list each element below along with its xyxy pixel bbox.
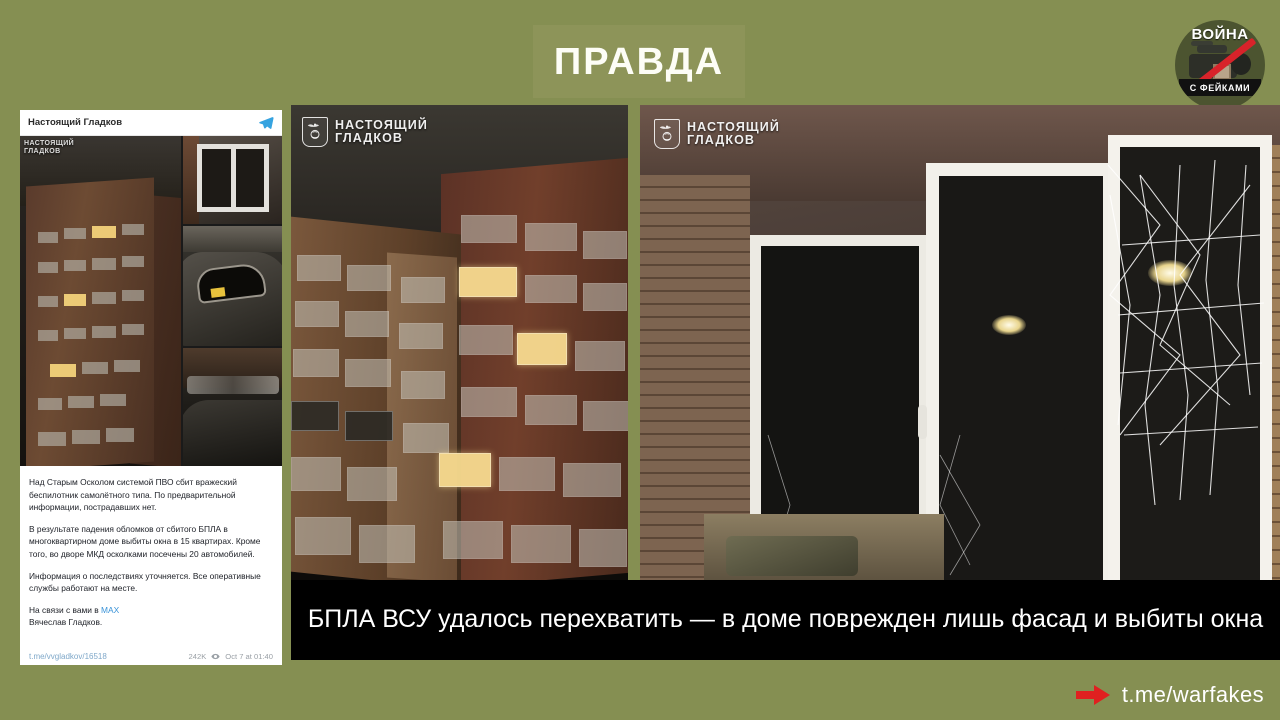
logo-bottom-banner: С ФЕЙКАМИ bbox=[1179, 79, 1261, 96]
window-cell bbox=[499, 457, 555, 491]
watermark-label: НАСТОЯЩИЙ ГЛАДКОВ bbox=[335, 119, 428, 146]
logo-circle: ВОЙНА С ФЕЙКАМИ bbox=[1175, 20, 1265, 110]
telegram-thumb-damaged-car[interactable] bbox=[183, 226, 282, 346]
window-cell bbox=[92, 326, 116, 338]
window-cell bbox=[38, 232, 58, 243]
ceiling-lamp-reflection bbox=[992, 315, 1026, 335]
window-cell-dark bbox=[291, 401, 339, 431]
window-cell bbox=[347, 265, 391, 291]
ceiling-lamp-reflection bbox=[1148, 260, 1192, 286]
window-cell bbox=[399, 323, 443, 349]
view-count: 242K bbox=[189, 652, 207, 661]
pravda-badge: ПРАВДА bbox=[533, 25, 745, 98]
watermark-line-1: НАСТОЯЩИЙ bbox=[335, 118, 428, 132]
window-cell bbox=[583, 283, 627, 311]
caption-text: БПЛА ВСУ удалось перехватить — в доме по… bbox=[308, 605, 1263, 635]
watermark-label: НАСТОЯЩИЙ ГЛАДКОВ bbox=[687, 121, 780, 148]
window-cell bbox=[92, 258, 116, 270]
post-signoff: На связи с вами в MAX Вячеслав Гладков. bbox=[29, 604, 273, 629]
street-background bbox=[183, 226, 282, 252]
page-header: ПРАВДА ВОЙНА С ФЕЙКАМИ bbox=[0, 0, 1280, 105]
window-cell bbox=[359, 525, 415, 563]
photo-watermark-text: НАСТОЯЩИЙГЛАДКОВ bbox=[24, 140, 74, 156]
shattered-window-photo[interactable]: НАСТОЯЩИЙ ГЛАДКОВ bbox=[640, 105, 1280, 580]
window-cell bbox=[297, 255, 341, 281]
window-cell bbox=[461, 215, 517, 243]
cloth-on-sill bbox=[726, 536, 858, 576]
telegram-post-text: Над Старым Осколом системой ПВО сбит вра… bbox=[20, 466, 282, 629]
signoff-prefix: На связи с вами в bbox=[29, 605, 101, 615]
telegram-post-header: Настоящий Гладков bbox=[20, 110, 282, 136]
telegram-photo-grid[interactable]: НАСТОЯЩИЙГЛАДКОВ bbox=[20, 136, 282, 466]
window-cell bbox=[64, 228, 86, 239]
window-cell bbox=[347, 467, 397, 501]
page-footer[interactable]: t.me/warfakes bbox=[1076, 682, 1264, 708]
max-link[interactable]: MAX bbox=[101, 605, 119, 615]
post-meta: 242K Oct 7 at 01:40 bbox=[189, 652, 273, 661]
window-cell bbox=[64, 328, 86, 339]
window-cell-lit bbox=[92, 226, 116, 238]
window-cell-lit bbox=[50, 364, 76, 377]
window-sash-right-broken bbox=[1108, 135, 1272, 580]
window-cell bbox=[92, 292, 116, 304]
telegram-photo-thumbnails bbox=[183, 136, 282, 466]
apartment-building-photo[interactable]: НАСТОЯЩИЙ ГЛАДКОВ bbox=[291, 105, 628, 580]
window-cell-lit bbox=[517, 333, 567, 365]
window-cell bbox=[583, 401, 628, 431]
window-cell bbox=[38, 296, 58, 307]
telegram-channel-name: Настоящий Гладков bbox=[28, 117, 258, 128]
window-cell bbox=[459, 325, 513, 355]
logo-bottom-word: С ФЕЙКАМИ bbox=[1190, 83, 1251, 93]
window-cell bbox=[575, 341, 625, 371]
window-cell bbox=[563, 463, 621, 497]
watermark-gladkov: НАСТОЯЩИЙ ГЛАДКОВ bbox=[654, 119, 780, 149]
window-cell bbox=[38, 262, 58, 273]
window-cell bbox=[345, 359, 391, 387]
window-cell bbox=[100, 394, 126, 406]
window-cell bbox=[401, 371, 445, 399]
eye-icon bbox=[211, 652, 220, 661]
signoff-author: Вячеслав Гладков. bbox=[29, 617, 102, 627]
watermark-line-1: НАСТОЯЩИЙ bbox=[687, 120, 780, 134]
window-cell bbox=[403, 423, 449, 453]
window-cell bbox=[345, 311, 389, 337]
post-paragraph-1: Над Старым Осколом системой ПВО сбит вра… bbox=[29, 476, 273, 514]
camera-top-icon bbox=[1197, 45, 1227, 53]
telegram-photo-building[interactable]: НАСТОЯЩИЙГЛАДКОВ bbox=[20, 136, 181, 466]
window-cell bbox=[72, 430, 100, 444]
window-cell bbox=[38, 432, 66, 446]
telegram-post-footer: t.me/vvgladkov/16518 242K Oct 7 at 01:40 bbox=[20, 652, 282, 661]
caption-bar: БПЛА ВСУ удалось перехватить — в доме по… bbox=[291, 580, 1280, 660]
window-cell bbox=[295, 301, 339, 327]
window-cell bbox=[82, 362, 108, 374]
window-cell bbox=[291, 457, 341, 491]
window-cell bbox=[106, 428, 134, 442]
window-cell bbox=[38, 330, 58, 341]
window-cell bbox=[579, 529, 627, 567]
watermark-line-2: ГЛАДКОВ bbox=[335, 131, 403, 145]
window-cell-lit bbox=[459, 267, 517, 297]
post-paragraph-3: Информация о последствиях уточняется. Вс… bbox=[29, 570, 273, 595]
window-cell bbox=[525, 223, 577, 251]
window-cell bbox=[295, 517, 351, 555]
window-handle[interactable] bbox=[918, 405, 927, 439]
window-cell bbox=[114, 360, 140, 372]
window-cell bbox=[583, 231, 627, 259]
window-cell bbox=[293, 349, 339, 377]
telegram-thumb-courtyard[interactable] bbox=[183, 348, 282, 466]
car-roof-foreground bbox=[183, 400, 282, 466]
window-cell bbox=[122, 224, 144, 235]
window-cell bbox=[68, 396, 94, 408]
window-cell bbox=[38, 398, 62, 410]
window-cell bbox=[461, 387, 517, 417]
post-permalink[interactable]: t.me/vvgladkov/16518 bbox=[29, 652, 189, 661]
post-paragraph-2: В результате падения обломков от сбитого… bbox=[29, 523, 273, 561]
yellow-marker bbox=[211, 287, 226, 298]
watermark-line-2: ГЛАДКОВ bbox=[687, 133, 755, 147]
window-mullion bbox=[231, 144, 236, 212]
warfakes-logo[interactable]: ВОЙНА С ФЕЙКАМИ bbox=[1175, 20, 1265, 110]
window-cell bbox=[122, 290, 144, 301]
window-cell-lit bbox=[64, 294, 86, 306]
parked-cars bbox=[187, 376, 279, 394]
window-sash-middle bbox=[926, 163, 1116, 580]
watermark-gladkov: НАСТОЯЩИЙ ГЛАДКОВ bbox=[302, 117, 428, 147]
post-timestamp: Oct 7 at 01:40 bbox=[225, 652, 273, 661]
building-facade bbox=[26, 178, 154, 466]
window-cell bbox=[64, 260, 86, 271]
window-cell bbox=[443, 521, 503, 559]
pravda-badge-label: ПРАВДА bbox=[554, 43, 724, 81]
window-cell bbox=[401, 277, 445, 303]
footer-channel-link[interactable]: t.me/warfakes bbox=[1122, 682, 1264, 708]
telegram-post-panel[interactable]: Настоящий Гладков bbox=[20, 110, 282, 665]
coat-of-arms-icon bbox=[654, 119, 680, 149]
window-cell-lit bbox=[439, 453, 491, 487]
telegram-thumb-window[interactable] bbox=[183, 136, 282, 224]
coat-of-arms-icon bbox=[302, 117, 328, 147]
window-cell bbox=[525, 275, 577, 303]
window-cell-dark bbox=[345, 411, 393, 441]
window-cell bbox=[122, 256, 144, 267]
right-arrow-icon bbox=[1076, 685, 1110, 705]
window-cell bbox=[122, 324, 144, 335]
window-cell bbox=[511, 525, 571, 563]
telegram-plane-icon bbox=[258, 115, 274, 131]
window-cell bbox=[525, 395, 577, 425]
